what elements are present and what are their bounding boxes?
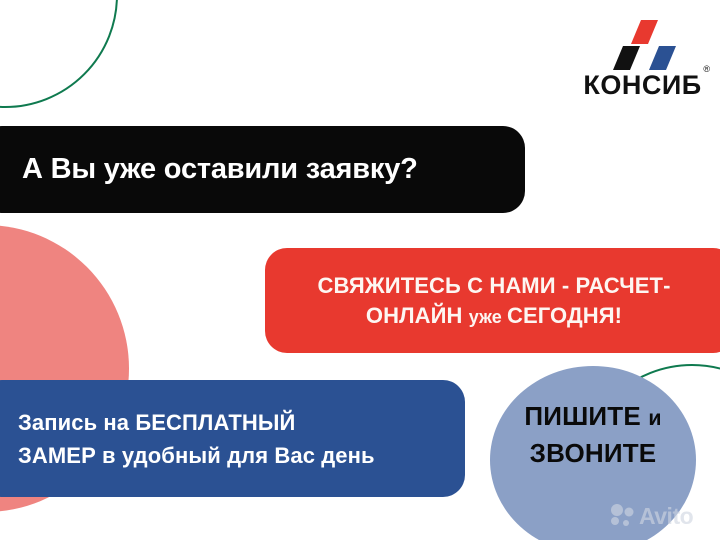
booking-line-2: ЗАМЕР в удобный для Вас день — [18, 439, 465, 472]
contact-line-1: СВЯЖИТЕСЬ С НАМИ - РАСЧЕТ- — [317, 271, 670, 301]
call-line-1-write: ПИШИТЕ — [524, 401, 648, 431]
question-panel: А Вы уже оставили заявку? — [0, 126, 525, 213]
contact-panel: СВЯЖИТЕСЬ С НАМИ - РАСЧЕТ- ОНЛАЙН уже СЕ… — [265, 248, 720, 353]
contact-line-2-already: уже — [469, 307, 507, 327]
booking-line-1: Запись на БЕСПЛАТНЫЙ — [18, 406, 465, 439]
avito-watermark-label: Avito — [639, 505, 693, 528]
call-line-1: ПИШИТЕ и — [490, 398, 696, 435]
contact-line-2-online: ОНЛАЙН — [366, 303, 469, 328]
booking-panel: Запись на БЕСПЛАТНЫЙ ЗАМЕР в удобный для… — [0, 380, 465, 497]
registered-trademark-icon: ® — [703, 65, 710, 74]
call-panel: ПИШИТЕ и ЗВОНИТЕ — [490, 398, 696, 472]
avito-watermark: Avito — [610, 500, 714, 532]
call-line-1-and: и — [648, 406, 661, 430]
green-ring-top-left-decoration — [0, 0, 118, 108]
brand-logo: КОНСИБ ® — [575, 20, 710, 100]
avito-dots-icon — [610, 504, 636, 528]
contact-line-2-today: СЕГОДНЯ! — [507, 303, 622, 328]
brand-wordmark: КОНСИБ — [575, 72, 710, 99]
call-line-2: ЗВОНИТЕ — [490, 435, 696, 472]
konsib-logo-mark-icon — [611, 20, 677, 70]
question-text: А Вы уже оставили заявку? — [22, 153, 525, 186]
poster-canvas: КОНСИБ ® А Вы уже оставили заявку? СВЯЖИ… — [0, 0, 720, 540]
contact-line-2: ОНЛАЙН уже СЕГОДНЯ! — [366, 301, 622, 331]
